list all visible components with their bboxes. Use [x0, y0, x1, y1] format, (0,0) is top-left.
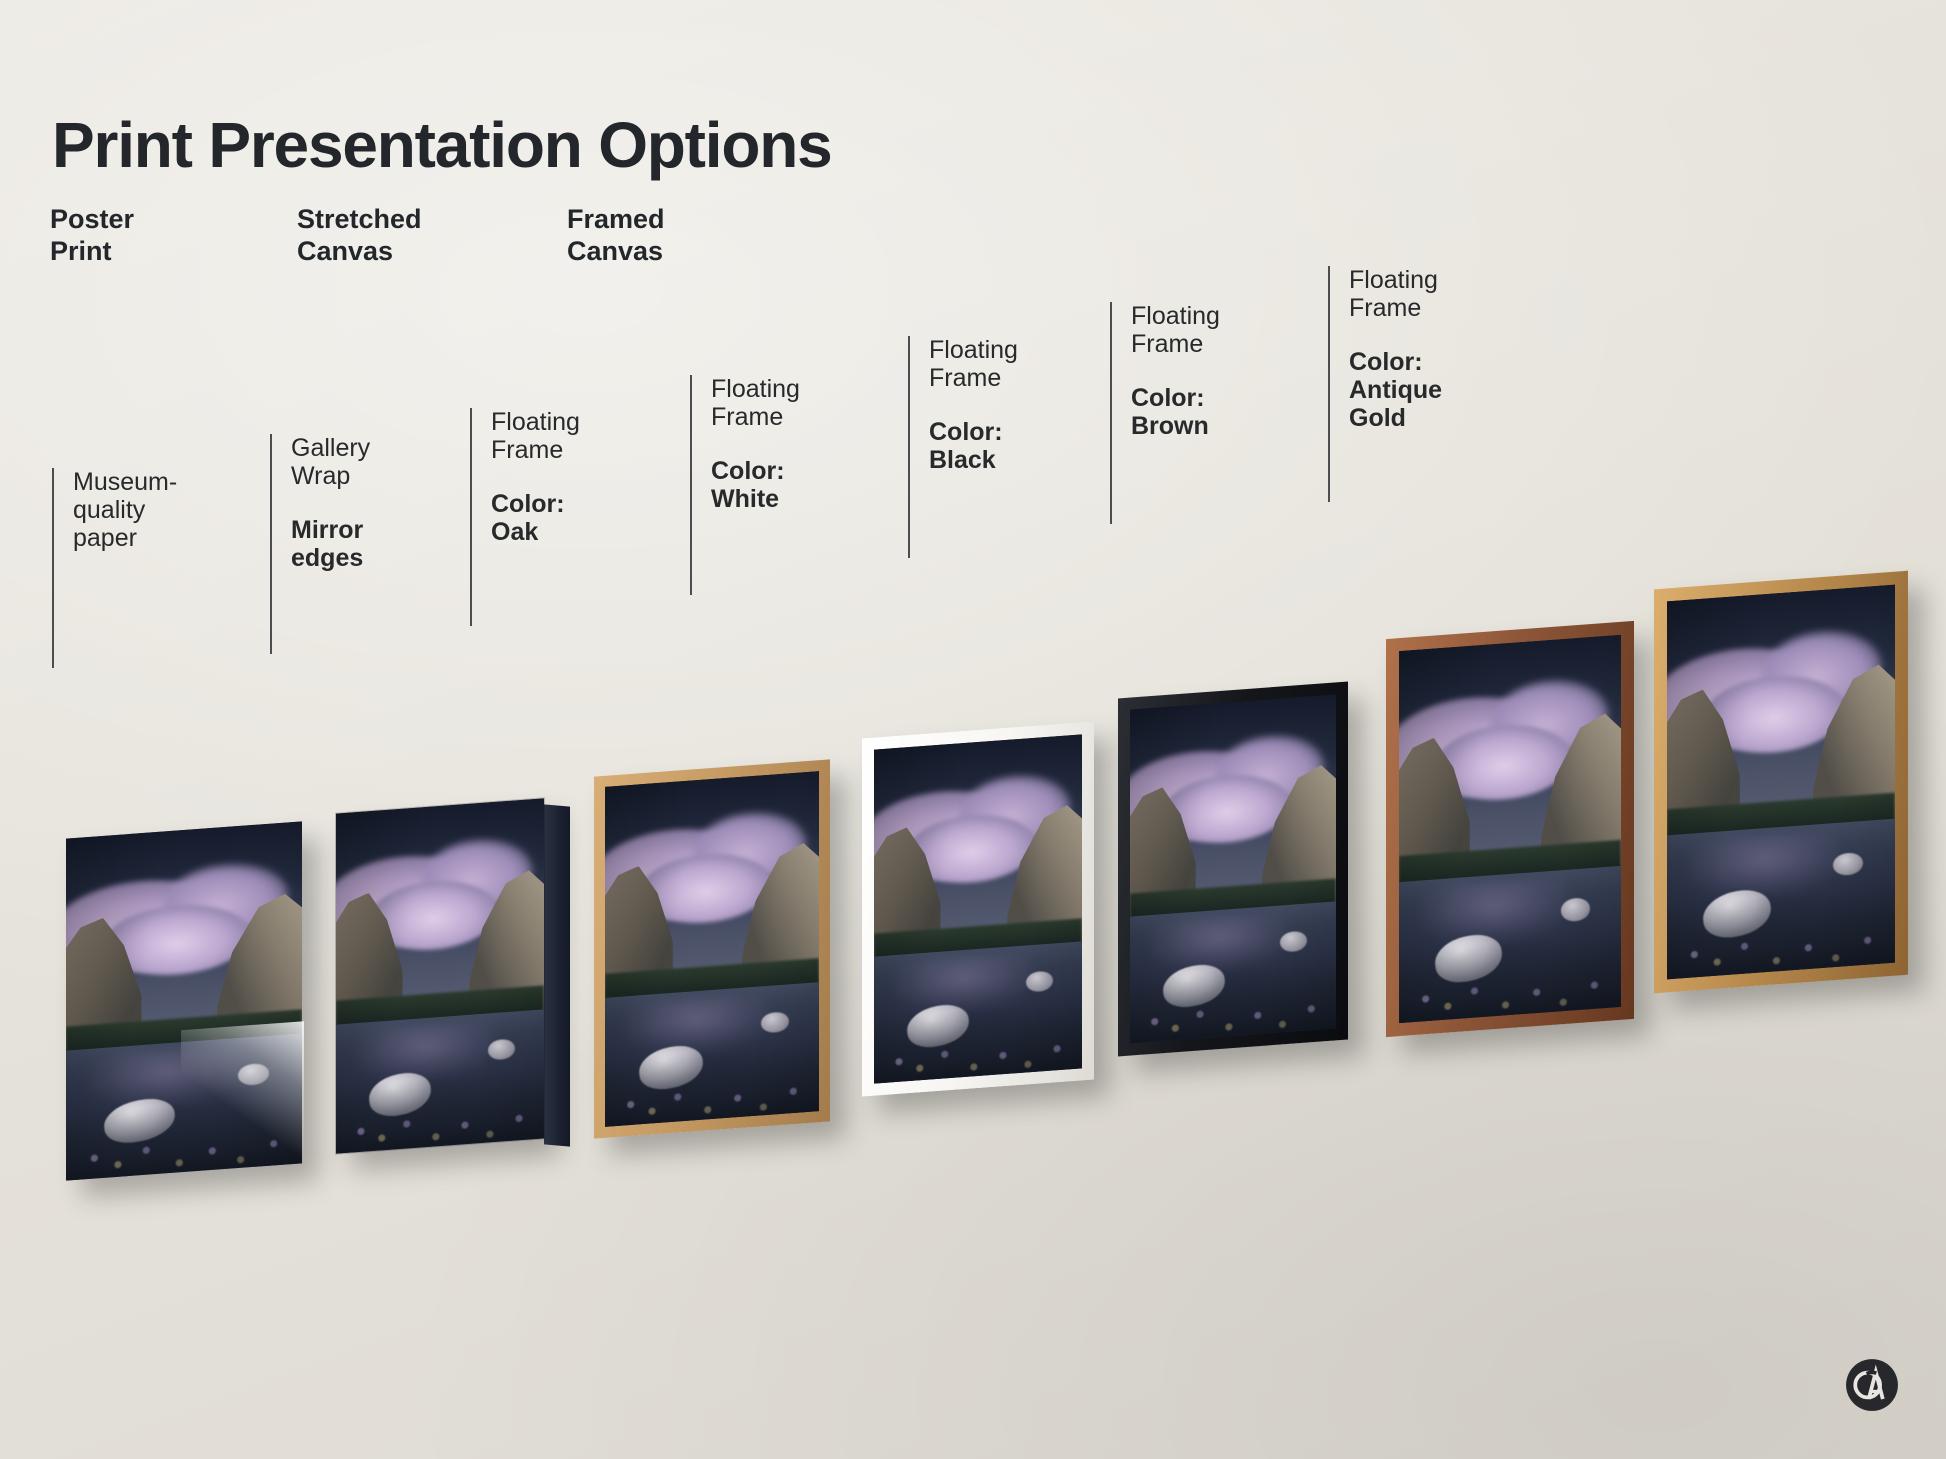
- callout-floating-frame-oak: Floating Frame Color: Oak: [470, 408, 660, 626]
- callout-line-2: Color: Antique Gold: [1349, 348, 1528, 432]
- product-floating-frame-antique-gold[interactable]: [1654, 571, 1908, 994]
- callout-spacer: [929, 392, 1098, 418]
- callout-line-2: Color: Brown: [1131, 384, 1300, 440]
- callout-line-2: Color: White: [711, 457, 880, 513]
- artwork-gallery-wrap: [336, 798, 544, 1153]
- callout-line-2: Color: Oak: [491, 490, 660, 546]
- callout-gallery-wrap: Gallery Wrap Mirror edges: [270, 434, 450, 654]
- category-heading-framed-canvas: Framed Canvas: [567, 204, 665, 268]
- callout-line-1: Museum- quality paper: [73, 468, 252, 552]
- artwork-shading: [874, 734, 1082, 1083]
- callout-line-1: Floating Frame: [929, 336, 1098, 392]
- artwork-shading: [1667, 585, 1895, 980]
- callout-line-1: Floating Frame: [1131, 302, 1300, 358]
- product-floating-frame-black[interactable]: [1118, 682, 1348, 1057]
- callout-floating-frame-antique-gold: Floating Frame Color: Antique Gold: [1328, 266, 1528, 502]
- artwork-shading: [336, 798, 544, 1153]
- callout-floating-frame-white: Floating Frame Color: White: [690, 375, 880, 595]
- callout-floating-frame-black: Floating Frame Color: Black: [908, 336, 1098, 558]
- artwork-floating-frame-white: [874, 734, 1082, 1083]
- artwork-shading: [66, 821, 302, 1180]
- canvas-side-edge: [544, 804, 570, 1146]
- artwork-floating-frame-black: [1130, 694, 1336, 1043]
- artwork-floating-frame-oak: [605, 771, 819, 1127]
- product-gallery-wrap[interactable]: [336, 798, 544, 1153]
- callout-spacer: [1131, 358, 1300, 384]
- page-title: Print Presentation Options: [52, 108, 832, 182]
- product-floating-frame-brown[interactable]: [1386, 621, 1634, 1037]
- callout-line-2: Mirror edges: [291, 516, 450, 572]
- product-floating-frame-oak[interactable]: [594, 759, 830, 1138]
- callout-line-1: Gallery Wrap: [291, 434, 450, 490]
- artwork-poster-print: [66, 821, 302, 1180]
- callout-spacer: [491, 464, 660, 490]
- callout-spacer: [291, 490, 450, 516]
- artwork-shading: [1130, 694, 1336, 1043]
- ca-monogram-logo[interactable]: [1845, 1358, 1899, 1412]
- callout-line-2: Color: Black: [929, 418, 1098, 474]
- product-poster-print[interactable]: [66, 821, 302, 1180]
- callout-line-1: Floating Frame: [491, 408, 660, 464]
- artwork-floating-frame-brown: [1399, 635, 1621, 1023]
- category-heading-poster-print: Poster Print: [50, 204, 134, 268]
- category-heading-stretched-canvas: Stretched Canvas: [297, 204, 422, 268]
- callout-line-1: Floating Frame: [1349, 266, 1528, 322]
- callout-spacer: [711, 431, 880, 457]
- callout-poster-print: Museum- quality paper: [52, 468, 252, 668]
- artwork-floating-frame-antique-gold: [1667, 585, 1895, 980]
- callout-line-1: Floating Frame: [711, 375, 880, 431]
- artwork-shading: [1399, 635, 1621, 1023]
- callout-spacer: [1349, 322, 1528, 348]
- artwork-shading: [605, 771, 819, 1127]
- product-floating-frame-white[interactable]: [862, 721, 1094, 1096]
- callout-floating-frame-brown: Floating Frame Color: Brown: [1110, 302, 1300, 524]
